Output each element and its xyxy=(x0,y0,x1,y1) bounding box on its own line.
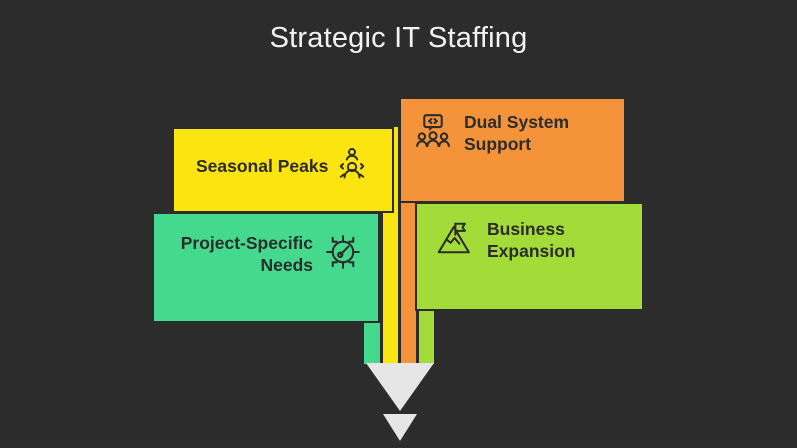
panel-dual-system-support[interactable]: Dual System Support xyxy=(399,97,626,203)
funnel-cone-tip xyxy=(383,414,417,441)
people-network-icon xyxy=(334,146,370,187)
panel-project-specific-needs[interactable]: Project-Specific Needs xyxy=(152,212,380,323)
panel-label: Business Expansion xyxy=(487,218,576,263)
panel-label: Project-Specific Needs xyxy=(181,232,313,277)
panel-business-expansion[interactable]: Business Expansion xyxy=(415,202,644,311)
mountain-flag-icon xyxy=(434,219,472,262)
page-title: Strategic IT Staffing xyxy=(0,22,797,55)
target-arrow-icon xyxy=(324,233,362,276)
code-bubble-people-icon xyxy=(414,112,452,155)
panel-label: Dual System Support xyxy=(464,111,569,156)
funnel-cone xyxy=(366,363,434,411)
panel-label: Seasonal Peaks xyxy=(196,155,328,177)
panel-seasonal-peaks[interactable]: Seasonal Peaks xyxy=(172,127,394,213)
slide-canvas: Strategic IT Staffing xyxy=(0,0,797,448)
